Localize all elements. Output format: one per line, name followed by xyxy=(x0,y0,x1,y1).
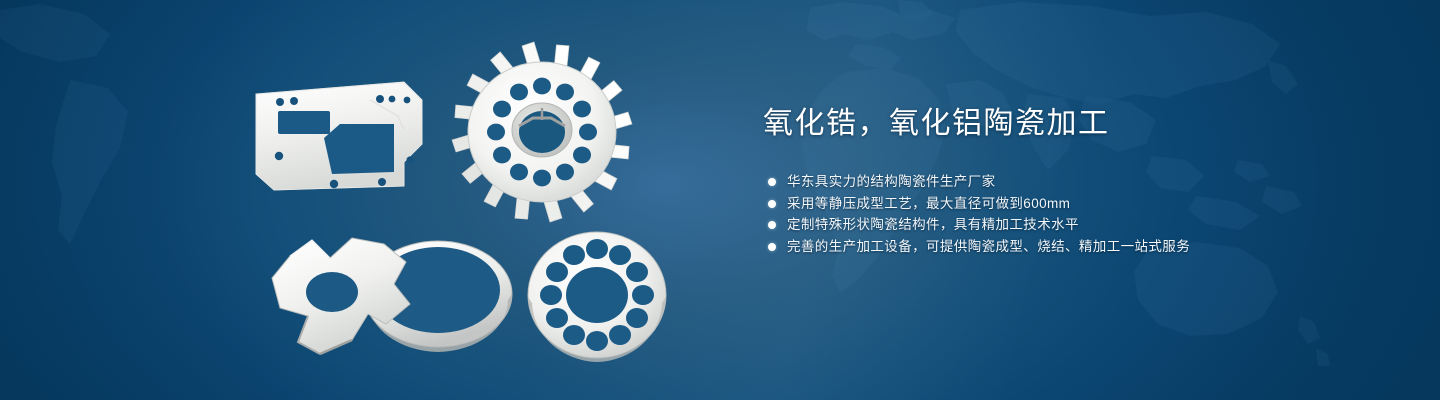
list-item: 华东具实力的结构陶瓷件生产厂家 xyxy=(763,171,1383,193)
list-item-label: 完善的生产加工设备，可提供陶瓷成型、烧结、精加工一站式服务 xyxy=(787,239,1190,254)
ceramic-perforated-disc xyxy=(524,228,670,362)
list-item: 完善的生产加工设备，可提供陶瓷成型、烧结、精加工一站式服务 xyxy=(763,236,1383,258)
banner-copy: 氧化锆，氧化铝陶瓷加工 华东具实力的结构陶瓷件生产厂家 采用等静压成型工艺，最大… xyxy=(763,104,1383,257)
page-title: 氧化锆，氧化铝陶瓷加工 xyxy=(763,104,1383,144)
feature-list: 华东具实力的结构陶瓷件生产厂家 采用等静压成型工艺，最大直径可做到600mm 定… xyxy=(763,171,1383,257)
bullet-dot-icon xyxy=(768,178,776,186)
list-item-label: 华东具实力的结构陶瓷件生产厂家 xyxy=(787,174,996,189)
list-item: 定制特殊形状陶瓷结构件，具有精加工技术水平 xyxy=(763,214,1383,236)
ceramic-vaned-impeller xyxy=(452,52,632,214)
list-item-label: 定制特殊形状陶瓷结构件，具有精加工技术水平 xyxy=(787,217,1079,232)
ceramic-cross-shaped-part xyxy=(256,232,431,367)
hero-banner: 氧化锆，氧化铝陶瓷加工 华东具实力的结构陶瓷件生产厂家 采用等静压成型工艺，最大… xyxy=(0,0,1440,400)
bullet-dot-icon xyxy=(768,200,776,208)
product-photo-cluster xyxy=(0,0,720,400)
list-item-label: 采用等静压成型工艺，最大直径可做到600mm xyxy=(787,196,1070,211)
bullet-dot-icon xyxy=(768,243,776,251)
list-item: 采用等静压成型工艺，最大直径可做到600mm xyxy=(763,193,1383,215)
ceramic-machined-plate xyxy=(252,78,442,193)
bullet-dot-icon xyxy=(768,221,776,229)
